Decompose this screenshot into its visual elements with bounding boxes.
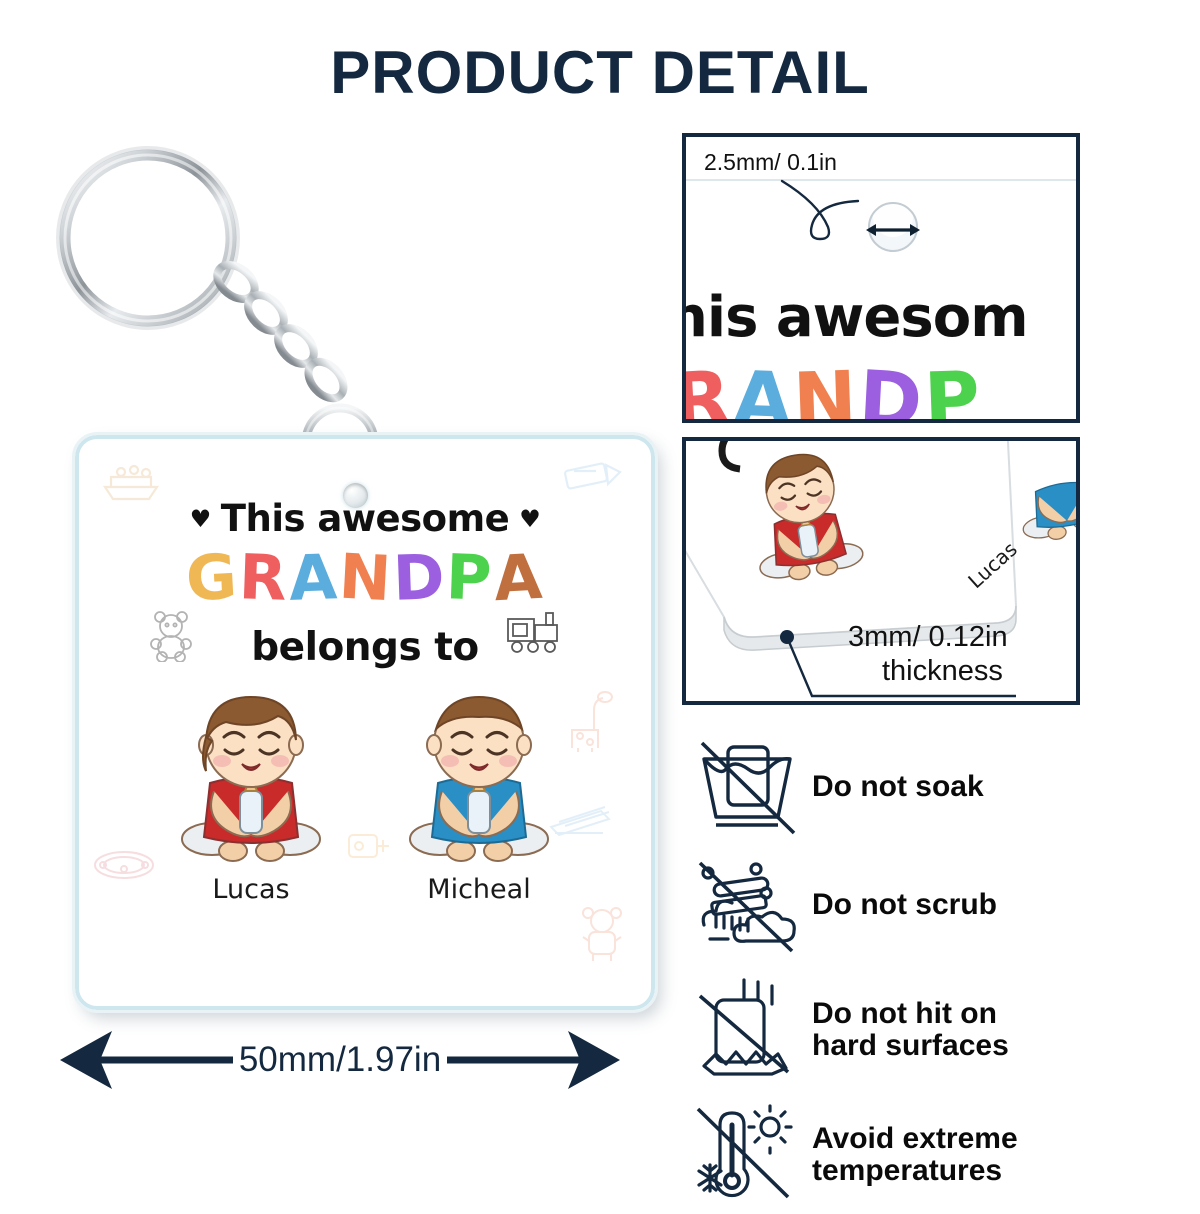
do-not-hit-icon: [682, 974, 812, 1086]
detail-box-hole-size: 2.5mm/ 0.1in his awesom RANDP: [682, 133, 1080, 423]
zoom-relation-letter-4: P: [923, 354, 984, 423]
block-doodle: [575, 905, 629, 963]
keychain-card: ♥This awesome♥ GRANDPA belongs to: [75, 435, 655, 1010]
thickness-kid-avatar: [730, 438, 877, 590]
card-headline-line3: belongs to: [75, 625, 655, 670]
width-dimension-label: 50mm/1.97in: [233, 1040, 447, 1080]
relation-word: GRANDPA: [75, 547, 655, 609]
care-row-scrub: Do not scrub: [682, 846, 1142, 964]
thickness-label-line2: thickness: [882, 655, 1003, 688]
zoom-relation-letter-1: A: [731, 354, 795, 423]
heart-icon-left: ♥: [190, 505, 211, 533]
care-instructions-list: Do not soak Do not scrub: [682, 728, 1142, 1214]
care-label-scrub: Do not scrub: [812, 889, 997, 921]
baby-avatar-micheal: [394, 687, 564, 865]
crayon-doodle: [562, 453, 624, 503]
care-row-soak: Do not soak: [682, 728, 1142, 846]
do-not-scrub-icon: [682, 855, 812, 955]
kids-row: Lucas: [75, 687, 655, 905]
page-title: PRODUCT DETAIL: [0, 38, 1200, 107]
care-row-temperature: Avoid extreme temperatures: [682, 1096, 1142, 1214]
relation-letter-5: P: [445, 546, 495, 610]
care-label-hit: Do not hit on hard surfaces: [812, 998, 1009, 1063]
relation-letter-1: R: [238, 546, 290, 610]
kid-name-1: Micheal: [394, 874, 564, 905]
care-row-hit: Do not hit on hard surfaces: [682, 964, 1142, 1096]
thickness-label-line1: 3mm/ 0.12in: [848, 621, 1008, 654]
relation-letter-0: G: [185, 546, 241, 611]
care-label-temperature: Avoid extreme temperatures: [812, 1123, 1018, 1188]
zoom-relation-letters: RANDP: [682, 355, 982, 423]
width-dimension: 50mm/1.97in: [60, 1025, 620, 1095]
kid-name-0: Lucas: [166, 874, 336, 905]
keychain-assembly: ♥This awesome♥ GRANDPA belongs to: [40, 110, 660, 1070]
zoom-relation-letter-0: R: [682, 353, 735, 423]
card-headline-line1: ♥This awesome♥: [75, 497, 655, 540]
relation-letter-4: D: [392, 546, 448, 610]
heart-icon-right: ♥: [519, 505, 540, 533]
zoom-relation-letter-3: D: [857, 353, 927, 423]
kid-figure-1: Micheal: [394, 687, 564, 905]
relation-letter-2: A: [288, 546, 340, 610]
kid-figure-0: Lucas: [166, 687, 336, 905]
relation-letter-6: A: [492, 546, 545, 611]
zoom-relation-letter-2: N: [792, 354, 861, 423]
avoid-temperature-icon: [682, 1103, 812, 1207]
headline-prefix-text: This awesome: [221, 497, 510, 540]
baby-avatar-lucas: [166, 687, 336, 865]
do-not-soak-icon: [682, 737, 812, 837]
relation-letter-3: N: [337, 546, 394, 611]
zoom-headline-text: his awesom: [682, 285, 1028, 350]
care-label-soak: Do not soak: [812, 771, 984, 803]
detail-box-thickness: Lucas 3mm/ 0.12in thickness: [682, 437, 1080, 705]
